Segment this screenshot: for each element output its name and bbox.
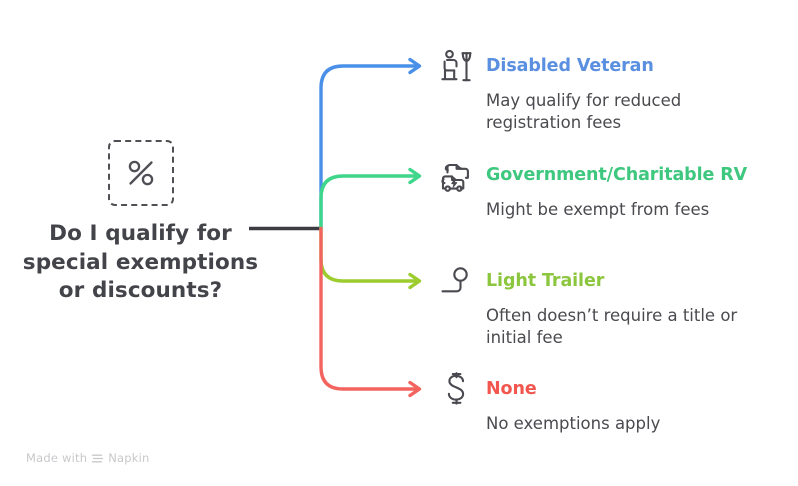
- branch-line-2: [321, 229, 418, 282]
- watermark: Made with Napkin: [26, 451, 150, 465]
- branch-light-trailer[interactable]: Light Trailer Often doesn’t require a ti…: [437, 263, 789, 349]
- branch-description: May qualify for reduced registration fee…: [486, 90, 754, 134]
- branch-line-0: [321, 66, 418, 229]
- trailer-hitch-icon: [437, 263, 477, 301]
- watermark-prefix: Made with: [26, 451, 87, 465]
- branch-none[interactable]: None No exemptions apply: [437, 371, 789, 435]
- branch-description: Often doesn’t require a title or initial…: [486, 305, 754, 349]
- branch-description: No exemptions apply: [486, 413, 754, 435]
- branch-label: Government/Charitable RV: [486, 157, 747, 185]
- branch-disabled-veteran[interactable]: Disabled Veteran May qualify for reduced…: [437, 48, 789, 134]
- percent-icon: [124, 156, 158, 190]
- branch-government-charitable-rv[interactable]: Government/Charitable RV Might be exempt…: [437, 157, 789, 221]
- branch-label: None: [486, 371, 537, 399]
- branch-header: Government/Charitable RV: [437, 157, 789, 195]
- branch-label: Disabled Veteran: [486, 48, 654, 76]
- watermark-brand: Napkin: [108, 451, 149, 465]
- branch-description: Might be exempt from fees: [486, 199, 754, 221]
- branch-header: Light Trailer: [437, 263, 789, 301]
- percent-icon-box: [108, 140, 174, 206]
- branch-line-3: [321, 229, 418, 390]
- napkin-logo-icon: [91, 452, 104, 465]
- branch-header: Disabled Veteran: [437, 48, 789, 86]
- electric-van-icon: [437, 157, 477, 195]
- branch-line-1: [321, 176, 418, 229]
- person-with-crutch-icon: [437, 48, 477, 86]
- dollar-sign-icon: [437, 371, 477, 409]
- root-node[interactable]: Do I qualify for special exemptions or d…: [8, 140, 273, 306]
- diagram-canvas: Do I qualify for special exemptions or d…: [0, 0, 798, 486]
- branch-label: Light Trailer: [486, 263, 604, 291]
- root-title: Do I qualify for special exemptions or d…: [8, 220, 273, 306]
- branch-header: None: [437, 371, 789, 409]
